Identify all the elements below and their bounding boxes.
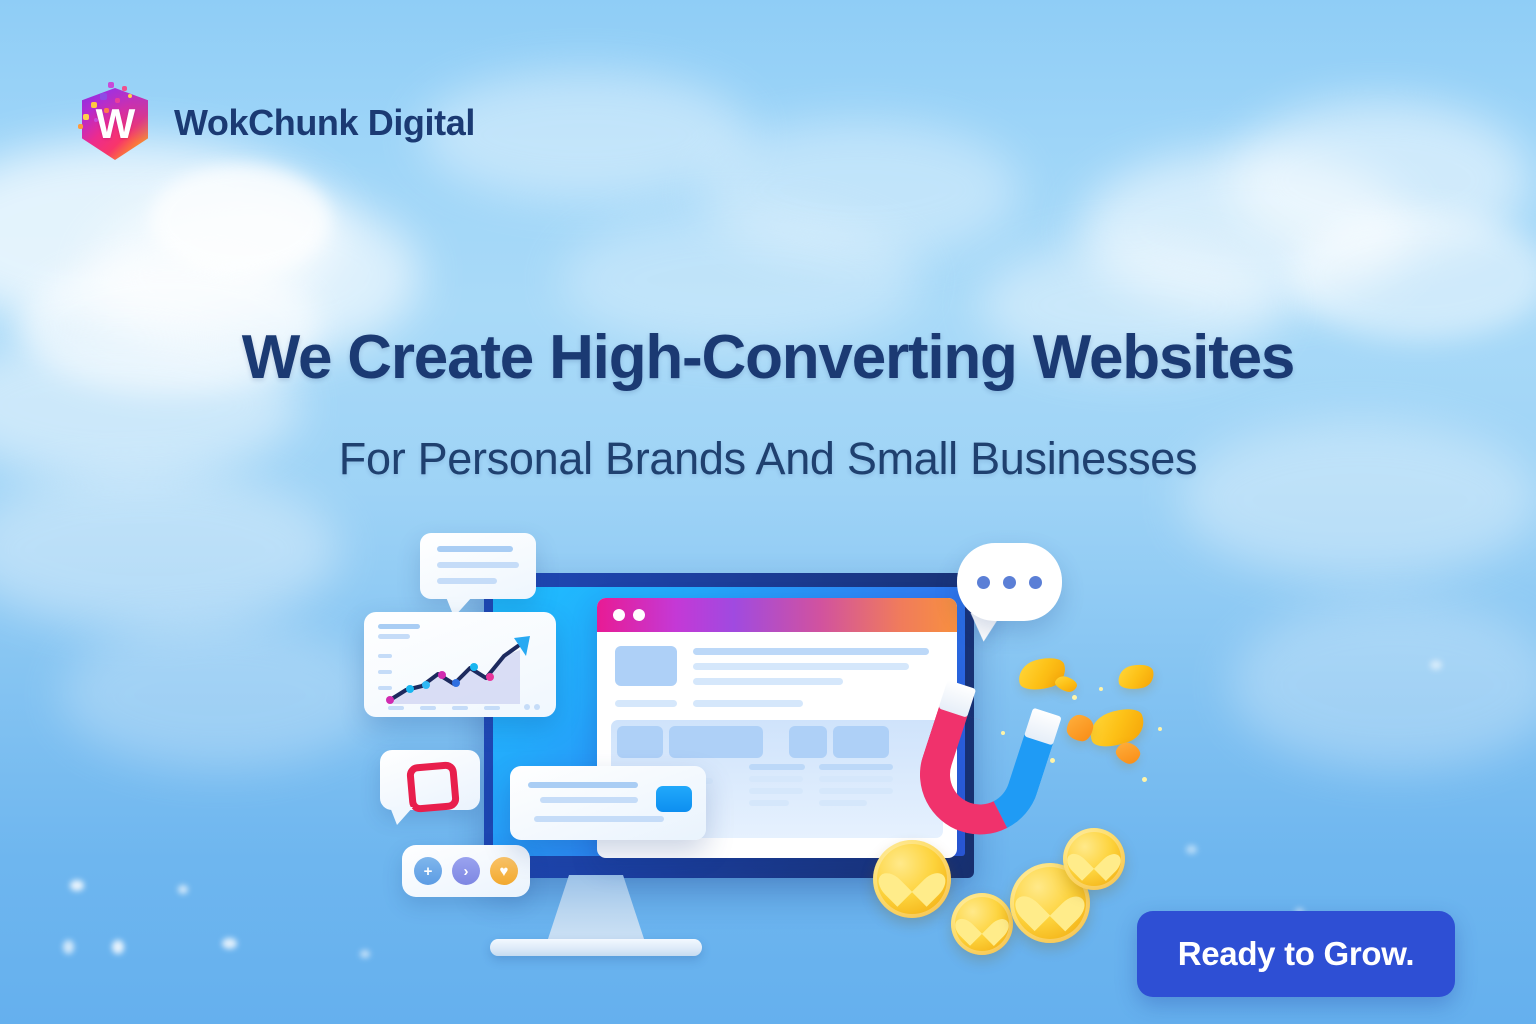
confetti-particle — [78, 124, 83, 129]
growth-chart-card — [364, 612, 556, 717]
hero-illustration: + › ♥ — [350, 515, 1190, 995]
content-line — [749, 764, 805, 770]
plus-icon[interactable]: + — [414, 857, 442, 885]
content-line — [693, 663, 909, 670]
form-card — [510, 766, 706, 840]
axis-mark — [484, 706, 500, 710]
heart-coin-icon — [1063, 828, 1125, 890]
red-glyph-bubble — [380, 750, 480, 810]
content-line — [693, 700, 803, 707]
confetti-particle — [115, 98, 120, 103]
chevron-right-icon[interactable]: › — [452, 857, 480, 885]
content-line — [615, 700, 677, 707]
gold-burst-icon — [1053, 674, 1078, 694]
confetti-particle — [94, 118, 98, 122]
status-dot — [524, 704, 530, 710]
coin-heart — [1077, 842, 1110, 875]
heart-coin-icon — [951, 893, 1013, 955]
red-glyph-bubble-tail — [390, 807, 413, 825]
confetti-particle — [83, 114, 89, 120]
coin-heart — [891, 858, 933, 900]
brand-logo[interactable]: W WokChunk Digital — [78, 84, 475, 162]
browser-dot — [613, 609, 625, 621]
axis-mark — [452, 706, 468, 710]
content-line — [819, 764, 893, 770]
content-tile — [789, 726, 827, 758]
chat-dot — [1029, 576, 1042, 589]
chat-dot — [977, 576, 990, 589]
card-line — [437, 546, 513, 552]
coin-heart — [965, 907, 998, 940]
sparkle — [1001, 731, 1005, 735]
page-subtitle: For Personal Brands And Small Businesses — [0, 433, 1536, 485]
monitor-stand-base — [490, 939, 702, 956]
confetti-particle — [108, 82, 114, 88]
card-action-button[interactable] — [656, 786, 692, 812]
sparkle — [1050, 758, 1055, 763]
confetti-particle — [128, 94, 132, 98]
card-line — [437, 578, 497, 584]
confetti-particle — [91, 102, 97, 108]
sparkle — [1142, 777, 1147, 782]
heart-coin-icon — [873, 840, 951, 918]
confetti-particle — [100, 93, 107, 100]
gold-burst-icon — [1116, 662, 1156, 693]
gold-burst-icon — [1085, 702, 1149, 753]
cta-label: Ready to Grow. — [1178, 935, 1415, 973]
content-line — [819, 800, 867, 806]
page-title: We Create High-Converting Websites — [0, 322, 1536, 393]
browser-dot — [633, 609, 645, 621]
browser-title-bar — [597, 598, 957, 632]
content-tile — [617, 726, 663, 758]
axis-mark — [420, 706, 436, 710]
content-line — [819, 776, 893, 782]
card-line — [437, 562, 519, 568]
rounded-square-outline-icon — [406, 761, 460, 813]
hex-shield-w-logo-icon: W — [78, 84, 152, 162]
chat-dot — [1003, 576, 1016, 589]
coin-heart — [1028, 881, 1071, 924]
message-card — [420, 533, 536, 599]
card-line — [534, 816, 664, 822]
sparkle — [1158, 727, 1162, 731]
brand-name: WokChunk Digital — [174, 102, 475, 144]
sparkle — [1072, 695, 1077, 700]
content-line — [693, 648, 929, 655]
content-line — [749, 788, 803, 794]
sparkle — [1099, 687, 1103, 691]
confetti-particle — [104, 108, 109, 113]
axis-mark — [388, 706, 404, 710]
content-line — [749, 776, 803, 782]
content-thumbnail — [615, 646, 677, 686]
card-line — [540, 797, 638, 803]
monitor-stand-neck — [546, 875, 646, 945]
content-tile — [833, 726, 889, 758]
content-line — [693, 678, 843, 685]
action-toolbar[interactable]: + › ♥ — [402, 845, 530, 897]
chat-dots-icon — [957, 543, 1062, 621]
heart-icon[interactable]: ♥ — [490, 857, 518, 885]
content-line — [749, 800, 789, 806]
confetti-particle — [122, 86, 127, 91]
status-dot — [534, 704, 540, 710]
hero-banner: W WokChunk Digital We Create High-Conver… — [0, 0, 1536, 1024]
card-line — [528, 782, 638, 788]
content-tile — [669, 726, 763, 758]
growth-chart-icon — [364, 612, 556, 717]
content-line — [819, 788, 893, 794]
